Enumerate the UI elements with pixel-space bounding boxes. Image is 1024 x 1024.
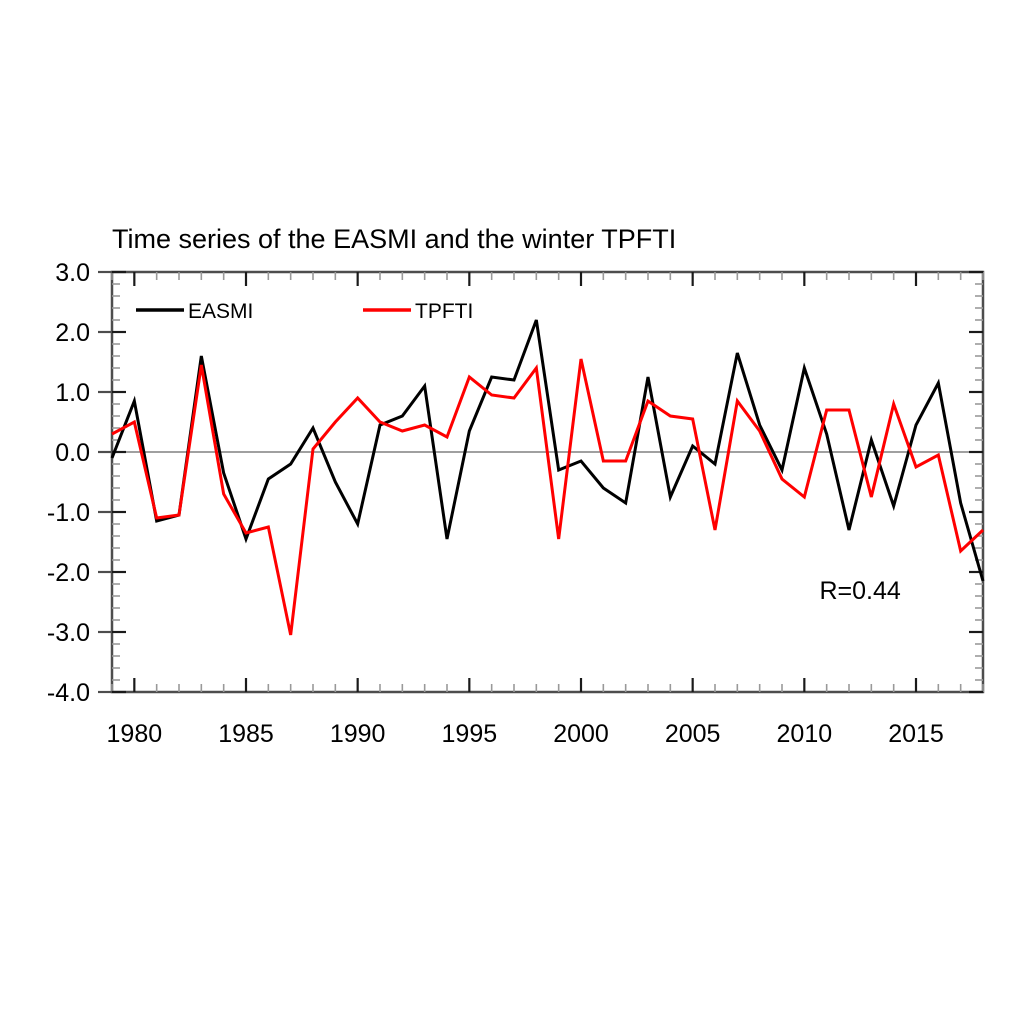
y-axis-tick-label: 3.0 [55,259,90,287]
correlation-annotation: R=0.44 [820,577,901,605]
x-axis-tick-label: 1980 [107,720,163,748]
line-chart: 3.02.01.00.0-1.0-2.0-3.0-4.0198019851990… [0,0,1024,1024]
y-axis-tick-label: -1.0 [47,499,90,527]
x-axis-tick-label: 1990 [330,720,386,748]
legend-label-easmi: EASMI [188,300,253,323]
x-axis-tick-label: 1995 [442,720,498,748]
y-axis-tick-label: -2.0 [47,559,90,587]
y-axis-tick-label: -3.0 [47,619,90,647]
plot-frame [112,272,983,692]
x-axis-tick-label: 2005 [665,720,721,748]
x-axis-tick-label: 2015 [888,720,944,748]
legend-label-tpfti: TPFTI [415,300,473,323]
x-axis-tick-label: 2010 [777,720,833,748]
chart-figure: 3.02.01.00.0-1.0-2.0-3.0-4.0198019851990… [0,0,1024,1024]
y-axis-tick-label: -4.0 [47,679,90,707]
x-axis-tick-label: 1985 [218,720,274,748]
x-axis-tick-label: 2000 [553,720,609,748]
y-axis-tick-label: 1.0 [55,379,90,407]
y-axis-tick-label: 0.0 [55,439,90,467]
y-axis-tick-label: 2.0 [55,319,90,347]
chart-title: Time series of the EASMI and the winter … [112,224,676,254]
